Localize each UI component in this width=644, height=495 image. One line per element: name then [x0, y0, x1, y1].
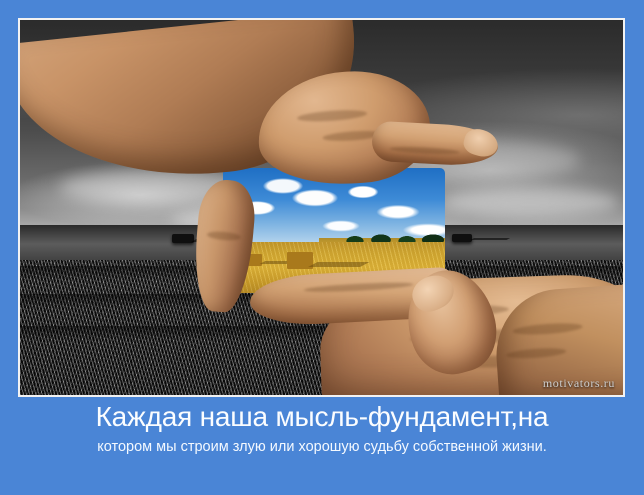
motivational-poster: motivators.ru Каждая наша мысль-фундамен… — [0, 0, 644, 495]
framing-hands-photo: motivators.ru — [20, 20, 623, 395]
grayscale-hay-bale — [172, 234, 194, 243]
color-hay-bale — [287, 252, 313, 269]
skin-crease — [207, 230, 242, 241]
skin-crease — [303, 281, 413, 294]
skin-crease — [512, 322, 583, 337]
watermark-text: motivators.ru — [543, 376, 615, 391]
skin-crease — [297, 108, 368, 123]
caption-sub-line: котором мы строим злую или хорошую судьб… — [0, 437, 644, 457]
skin-crease — [390, 146, 460, 156]
cloud-wisp — [440, 188, 620, 218]
photo-frame: motivators.ru — [18, 18, 625, 397]
skin-crease — [506, 347, 566, 360]
grayscale-hay-bale — [452, 234, 472, 242]
caption-block: Каждая наша мысль-фундамент,на котором м… — [0, 400, 644, 457]
caption-main-line: Каждая наша мысль-фундамент,на — [0, 400, 644, 434]
